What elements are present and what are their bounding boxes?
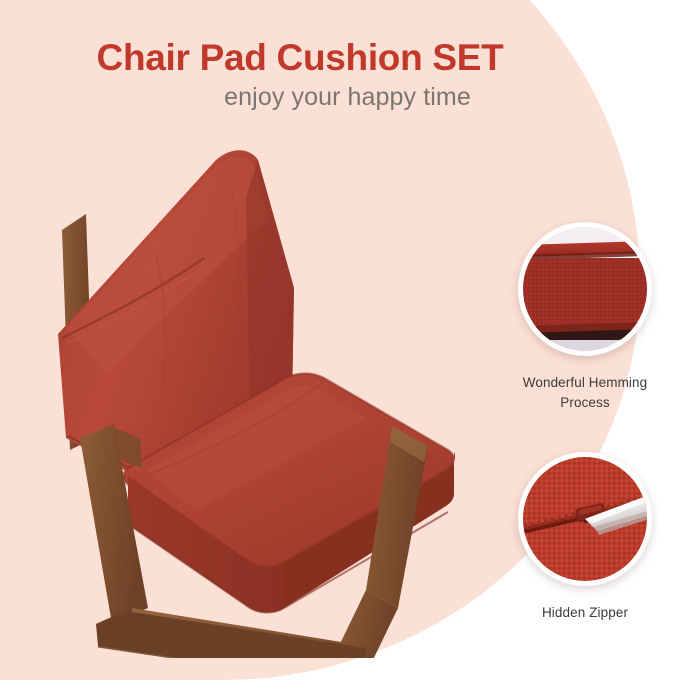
callout-label-line1: Hidden Zipper — [542, 605, 628, 620]
callout-label-zipper: Hidden Zipper — [495, 603, 675, 623]
callout-label-line2: Process — [560, 395, 609, 410]
callout-zipper: Hidden Zipper — [495, 452, 675, 623]
page-subtitle: enjoy your happy time — [0, 83, 600, 112]
zipper-detail-icon — [523, 457, 647, 581]
callout-label-line1: Wonderful Hemming — [523, 375, 648, 390]
callout-hemming: Wonderful Hemming Process — [495, 222, 675, 412]
header: Chair Pad Cushion SET enjoy your happy t… — [0, 38, 600, 112]
detail-circle-zipper — [518, 452, 652, 586]
product-image-chair — [36, 138, 486, 658]
page-title: Chair Pad Cushion SET — [0, 38, 600, 78]
fabric-hem-detail-icon — [523, 227, 647, 351]
product-marketing-image: Chair Pad Cushion SET enjoy your happy t… — [0, 0, 679, 697]
callout-label-hemming: Wonderful Hemming Process — [495, 373, 675, 412]
detail-circle-hemming — [518, 222, 652, 356]
